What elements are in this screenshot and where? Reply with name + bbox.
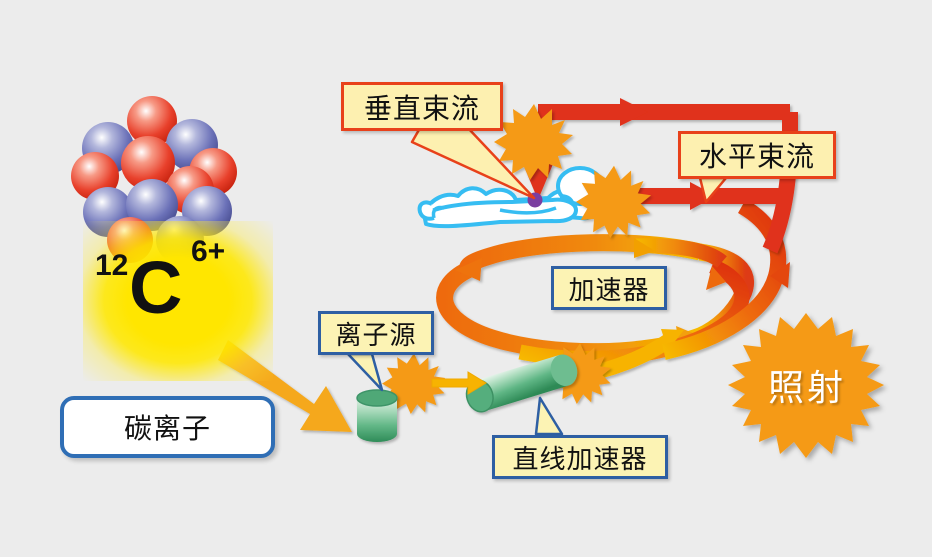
label-vertical-beam[interactable]: 垂直束流	[341, 82, 503, 131]
label-ion-source[interactable]: 离子源	[318, 311, 434, 355]
diagram-canvas: 12 C 6+ 垂直束流 水平束流 加速器 离子源 直线加速器 碳离子 照射	[0, 0, 932, 557]
label-linear-accelerator[interactable]: 直线加速器	[492, 435, 668, 479]
label-irradiation: 照射	[718, 359, 896, 411]
label-horizontal-beam[interactable]: 水平束流	[678, 131, 836, 179]
callout-tail	[536, 398, 562, 434]
element-symbol: C	[129, 251, 182, 325]
mass-number: 12	[95, 249, 128, 283]
isotope-notation: 12 C 6+	[73, 235, 273, 355]
carbon-ion-figure: 12 C 6+	[55, 95, 285, 345]
label-carbon-ion[interactable]: 碳离子	[60, 396, 275, 458]
callout-tail	[348, 354, 382, 390]
charge-state: 6+	[191, 235, 225, 269]
cylinder-icon	[357, 390, 397, 442]
label-accelerator[interactable]: 加速器	[551, 266, 667, 310]
